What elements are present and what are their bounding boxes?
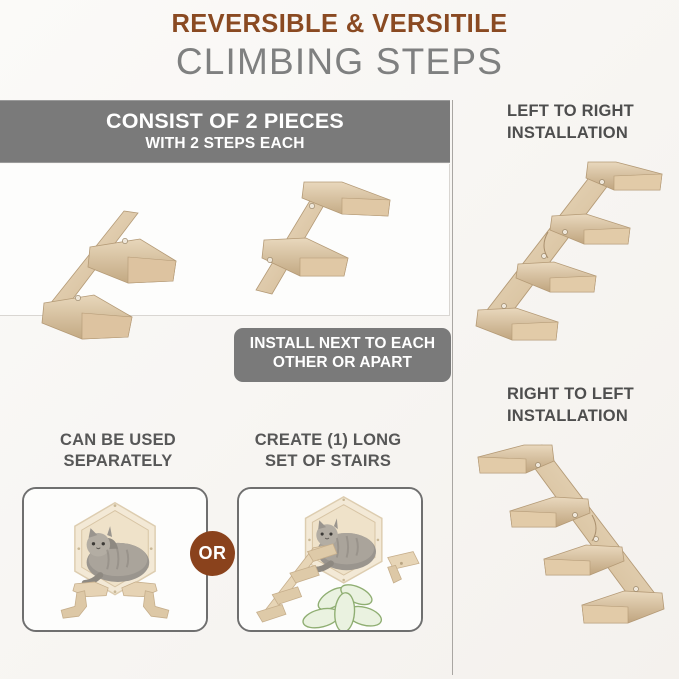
left-to-right-label-line2: INSTALLATION	[507, 122, 634, 144]
photo-long-stairs	[237, 487, 423, 632]
or-badge: OR	[190, 531, 235, 576]
install-pill-line1: INSTALL NEXT TO EACH	[234, 328, 451, 354]
create-long-stairs-heading: CREATE (1) LONG SET OF STAIRS	[228, 430, 428, 473]
install-pill: INSTALL NEXT TO EACH OTHER OR APART	[234, 328, 451, 382]
separately-heading-line1: CAN BE USED	[18, 430, 218, 451]
column-divider	[452, 100, 453, 675]
can-be-used-separately-heading: CAN BE USED SEPARATELY	[18, 430, 218, 473]
separately-heading-line2: SEPARATELY	[18, 451, 218, 472]
page-title: CLIMBING STEPS	[0, 38, 679, 82]
longstairs-heading-line2: SET OF STAIRS	[228, 451, 428, 472]
right-to-left-assembly-illustration	[462, 443, 674, 639]
right-to-left-label-line1: RIGHT TO LEFT	[507, 383, 634, 405]
photo-separately	[22, 487, 208, 632]
left-to-right-label: LEFT TO RIGHT INSTALLATION	[507, 100, 634, 145]
consist-banner-line2: WITH 2 STEPS EACH	[0, 133, 450, 152]
step-piece-right-illustration	[238, 172, 438, 322]
right-to-left-label-line2: INSTALLATION	[507, 405, 634, 427]
infographic-page: REVERSIBLE & VERSITILE CLIMBING STEPS CO…	[0, 0, 679, 679]
photo-long-stairs-scene	[239, 489, 421, 631]
photo-separately-scene	[24, 489, 206, 631]
consist-banner: CONSIST OF 2 PIECES WITH 2 STEPS EACH	[0, 100, 450, 163]
left-to-right-assembly-illustration	[466, 160, 676, 355]
page-header: REVERSIBLE & VERSITILE CLIMBING STEPS	[0, 0, 679, 98]
consist-banner-line1: CONSIST OF 2 PIECES	[0, 101, 450, 133]
left-to-right-label-line1: LEFT TO RIGHT	[507, 100, 634, 122]
right-to-left-label: RIGHT TO LEFT INSTALLATION	[507, 383, 634, 428]
longstairs-heading-line1: CREATE (1) LONG	[228, 430, 428, 451]
install-pill-line2: OTHER OR APART	[234, 354, 451, 373]
step-piece-left-illustration	[28, 175, 218, 365]
page-title-top: REVERSIBLE & VERSITILE	[0, 0, 679, 38]
